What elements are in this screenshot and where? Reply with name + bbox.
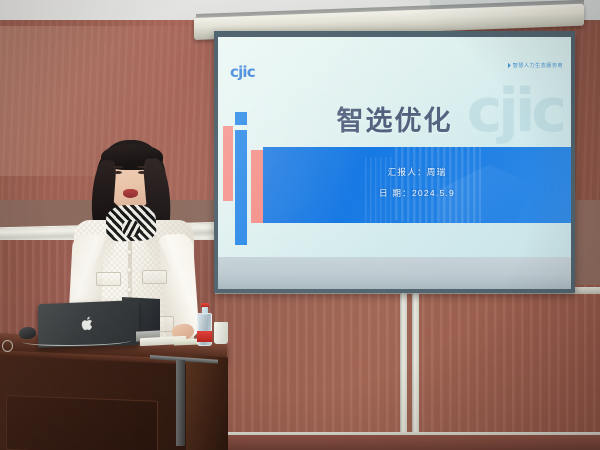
screen-blank-area	[218, 257, 571, 289]
jacket-button-2	[127, 268, 132, 273]
eye-left	[114, 171, 122, 174]
paper-cup[interactable]	[214, 322, 228, 344]
slide-presenter-line: 汇报人：周瑞	[263, 166, 571, 178]
jacket-pocket-left	[96, 272, 121, 286]
jacket-button-1	[127, 250, 132, 255]
slide-decor-red-bar	[223, 126, 233, 201]
triangle-bullet-icon	[508, 63, 511, 69]
slide-info-band: 汇报人：周瑞 日 期：2024.5.9	[263, 147, 571, 223]
slide-tagline: 智慧人力生态服务商	[508, 62, 563, 69]
eyebrow-left	[113, 166, 123, 168]
ring-clip	[2, 340, 13, 352]
slide-title: 智选优化	[218, 99, 571, 138]
slide-tagline-text: 智慧人力生态服务商	[513, 62, 563, 69]
scarf-knot	[122, 220, 140, 237]
apple-logo-icon	[81, 315, 94, 332]
slide-decor-blue-bar	[235, 130, 247, 245]
slide-band-text-group: 汇报人：周瑞 日 期：2024.5.9	[263, 147, 571, 199]
projection-screen-surface: cjic cjic 智慧人力生态服务商 智选优化 汇报人：周瑞 日 期：2024…	[218, 37, 571, 289]
eyebrow-right	[137, 166, 147, 168]
cjic-logo: cjic	[230, 63, 255, 81]
jacket-button-3	[127, 288, 132, 293]
wall-baseboard	[215, 435, 600, 450]
photo-scene: cjic cjic 智慧人力生态服务商 智选优化 汇报人：周瑞 日 期：2024…	[0, 0, 600, 450]
eye-right	[138, 171, 146, 174]
slide-date-line: 日 期：2024.5.9	[263, 187, 571, 199]
presentation-slide: cjic cjic 智慧人力生态服务商 智选优化 汇报人：周瑞 日 期：2024…	[218, 37, 571, 257]
slide-decor-blue-square	[235, 112, 247, 125]
mouth	[123, 189, 138, 198]
wall-panel-divider-vertical-1	[400, 292, 407, 450]
podium-front-panel	[6, 395, 158, 450]
podium-metal-leg	[176, 360, 185, 446]
slide-band-red-accent	[251, 150, 263, 223]
podium-side-face	[186, 354, 228, 450]
wall-panel-divider-vertical-2	[412, 292, 419, 450]
bottle-label	[197, 331, 212, 342]
jacket-pocket-right	[142, 270, 167, 284]
wall-lower-right-grain	[215, 285, 600, 450]
